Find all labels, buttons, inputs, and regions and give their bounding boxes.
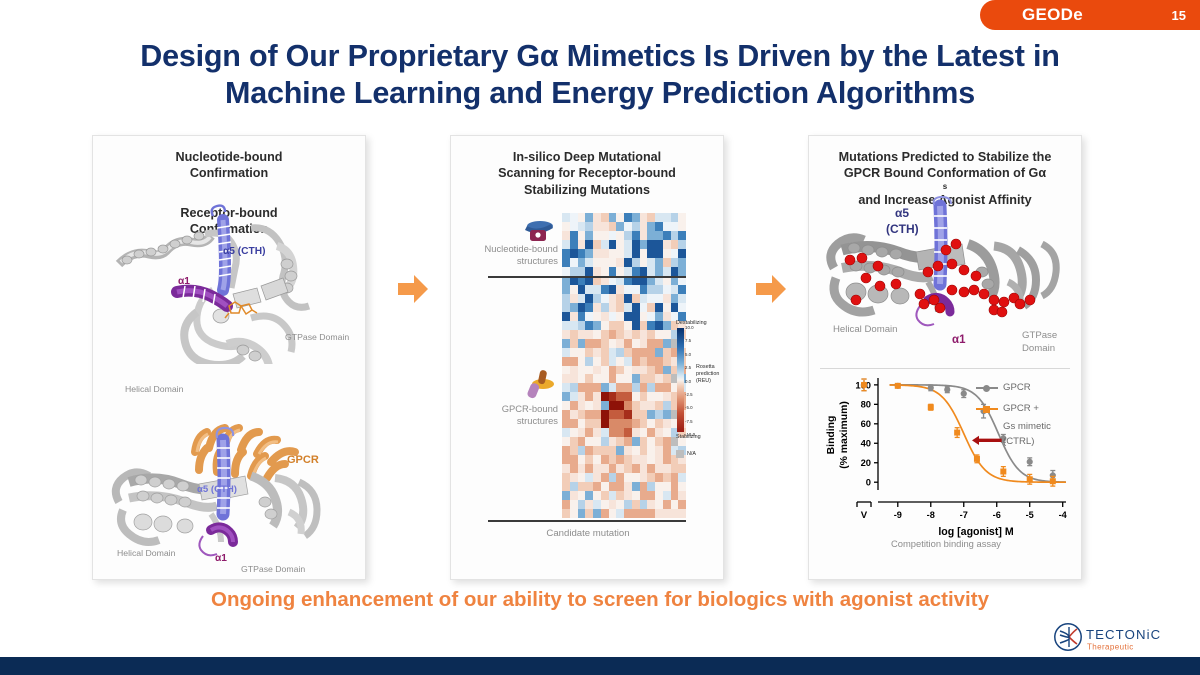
heatmap-cell [585,231,593,240]
heatmap-cell [678,249,686,258]
heatmap-cell [624,500,632,509]
heatmap-cell [601,383,609,392]
heatmap-row-label-gpcr: GPCR-bound structures [458,403,558,427]
heatmap-cell [678,222,686,231]
heatmap-cell [647,213,655,222]
heatmap-cell [562,339,570,348]
heatmap-cell [562,500,570,509]
heatmap-cell [655,357,663,366]
chart-ylabel: (% maximum) [839,401,850,469]
heatmap-cell [624,222,632,231]
heatmap-cell [640,419,648,428]
logo-wordmark: TECTONiC [1086,627,1161,642]
heatmap-cell [570,339,578,348]
heatmap-cell [663,509,671,518]
heatmap-cell [585,240,593,249]
heatmap-cell [678,258,686,267]
heatmap-cell [655,392,663,401]
heatmap-cell [678,294,686,303]
heatmap-cell [562,392,570,401]
heatmap-cell [593,455,601,464]
heatmap-cell [585,285,593,294]
heatmap-cell [624,231,632,240]
heatmap-cell [593,249,601,258]
heatmap-cell [578,267,586,276]
heatmap-cell [640,231,648,240]
heatmap-cell [585,392,593,401]
heatmap-cell [616,464,624,473]
heatmap-cell [655,249,663,258]
heatmap-cell [601,330,609,339]
heatmap-cell [609,401,617,410]
heatmap-cell [609,366,617,375]
heatmap-cell [663,285,671,294]
heatmap-cell [663,213,671,222]
heatmap-cell [678,240,686,249]
panel2-title-line2: Scanning for Receptor-bound [463,165,711,181]
heatmap-cell [570,410,578,419]
heatmap-cell [655,231,663,240]
heatmap-cell [624,383,632,392]
heatmap-cell [624,249,632,258]
heatmap-cell [585,348,593,357]
heatmap-cell [585,249,593,258]
panel2-title: In-silico Deep Mutational Scanning for R… [451,136,723,198]
heatmap-cell [578,339,586,348]
heatmap-cell [624,401,632,410]
heatmap-colorbar-legend: Destabilizing 10.07.55.02.50.0-2.5-5.0-7… [676,320,722,480]
heatmap-cell [647,392,655,401]
heatmap-cell [632,455,640,464]
heatmap-cell [585,267,593,276]
chart-point [1000,469,1006,475]
heatmap-cell [609,428,617,437]
heatmap-cell [570,330,578,339]
heatmap-cell [578,392,586,401]
heatmap-cell [601,285,609,294]
heatmap-cell [624,482,632,491]
heatmap-cell [640,383,648,392]
heatmap-cell [585,473,593,482]
heatmap-cell [616,482,624,491]
heatmap-cell [663,455,671,464]
heatmap-cell [655,222,663,231]
heatmap-cell [562,464,570,473]
heatmap-cell [663,473,671,482]
heatmap-cell [671,231,679,240]
heatmap-cell [562,222,570,231]
heatmap-cell [624,410,632,419]
heatmap-cell [647,437,655,446]
heatmap-cell [616,312,624,321]
heatmap-cell [632,464,640,473]
heatmap-cell [616,303,624,312]
heatmap-cell [562,231,570,240]
heatmap-cell [585,491,593,500]
heatmap-cell [601,321,609,330]
heatmap-cell [601,446,609,455]
heatmap-cell [562,410,570,419]
heatmap-cell [585,312,593,321]
heatmap-cell [624,348,632,357]
heatmap-cell [585,374,593,383]
heatmap-cell [562,428,570,437]
heatmap-cell [593,348,601,357]
heatmap-cell [570,428,578,437]
heatmap-cell [578,285,586,294]
heatmap-cell [678,285,686,294]
chart-legend-gpcr: GPCR [976,382,1031,394]
label-a5-cth-bottom: α5 (CTH) [197,484,237,495]
heatmap-cell [632,437,640,446]
heatmap-cell [570,401,578,410]
heatmap-cell [632,258,640,267]
heatmap-cell [593,383,601,392]
heatmap-cell [624,213,632,222]
logo-tagline: Therapeutic [1087,643,1134,652]
heatmap-cell [601,419,609,428]
heatmap-cell [601,222,609,231]
heatmap-cell [632,446,640,455]
heatmap-cell [562,509,570,518]
chart-point [1027,476,1033,482]
colorbar-gradient [677,328,684,432]
heatmap-cell [585,410,593,419]
heatmap-cell [616,437,624,446]
heatmap-cell [624,491,632,500]
heatmap-cell [647,410,655,419]
colorbar-tick: 5.0 [685,352,691,357]
heatmap-cell [601,401,609,410]
heatmap-cell [585,419,593,428]
heatmap-cell [585,303,593,312]
heatmap-cell [601,366,609,375]
chart-curve [890,385,1066,482]
heatmap-cell [593,509,601,518]
heatmap-cell [632,482,640,491]
heatmap-cell [663,231,671,240]
panel1-top-title-line2: Confirmation [105,165,353,181]
heatmap-cell [570,383,578,392]
chart-xtick: -9 [894,510,902,520]
heatmap-cell [609,500,617,509]
heatmap-cell [647,446,655,455]
na-label: N/A [687,451,696,457]
heatmap-cell [640,374,648,383]
heatmap-cell [640,339,648,348]
heatmap-cell [593,213,601,222]
panel1-top-title-line1: Nucleotide-bound [105,149,353,165]
heatmap-cell [655,348,663,357]
heatmap-cell [570,374,578,383]
flow-arrow-right-2 [754,272,788,306]
heatmap-cell [578,240,586,249]
heatmap-cell [570,437,578,446]
heatmap-cell [562,312,570,321]
chart-point [944,387,950,393]
heatmap-cell [632,231,640,240]
heatmap-cell [601,231,609,240]
heatmap-cell [616,285,624,294]
heatmap-cell [562,258,570,267]
heatmap-cell [678,213,686,222]
heatmap-cell [655,267,663,276]
heatmap-cell [647,321,655,330]
heatmap-cell [609,383,617,392]
heatmap-cell [616,509,624,518]
label-helical-domain-panel3: Helical Domain [833,324,898,335]
heatmap-cell [601,294,609,303]
heatmap-cell [647,249,655,258]
heatmap-cell [624,446,632,455]
legend-label-gpcr: GPCR [1003,382,1031,394]
heatmap-cell [640,312,648,321]
heatmap-cell [562,491,570,500]
colorbar-caption: Rosetta prediction (REU) [696,364,724,385]
heatmap-cell [585,464,593,473]
heatmap-cell [609,509,617,518]
heatmap-cell [578,357,586,366]
heatmap-cell [609,464,617,473]
heatmap-cell [570,321,578,330]
heatmap-cell [570,258,578,267]
heatmap-cell [640,366,648,375]
heatmap-cell [570,267,578,276]
heatmap-cell [601,491,609,500]
heatmap-cell [640,410,648,419]
heatmap-cell [624,303,632,312]
heatmap-cell [609,491,617,500]
heatmap-cell [562,303,570,312]
heatmap-cell [562,482,570,491]
heatmap-cell [616,339,624,348]
heatmap-cell [609,339,617,348]
heatmap-cell [655,401,663,410]
heatmap-cell [647,285,655,294]
heatmap-cell [640,437,648,446]
label-gtpase-domain-bottom: GTPase Domain [241,564,305,574]
chart-point [954,430,960,436]
heatmap-cell [601,312,609,321]
heatmap-cell [647,383,655,392]
panel-nucleotide-receptor-conformations: Nucleotide-bound Confirmation [92,135,366,580]
heatmap-cell [616,330,624,339]
heatmap-cell [647,374,655,383]
heatmap-xaxis-label: Candidate mutation [490,528,686,539]
heatmap-cell [647,473,655,482]
legend-label-mimetic-line1: GPCR + [1003,403,1039,415]
heatmap-cell [640,240,648,249]
heatmap-cell [601,348,609,357]
heatmap-cell [609,240,617,249]
heatmap-cell [609,419,617,428]
heatmap-cell [640,446,648,455]
heatmap-cell [655,428,663,437]
heatmap-cell [640,303,648,312]
heatmap-cell [593,437,601,446]
heatmap-cell [585,339,593,348]
heatmap-cell [562,366,570,375]
heatmap-cell [655,446,663,455]
label-gtpase-panel3-line2: Domain [1022,343,1055,354]
gpcr-structure-icon [524,365,558,399]
heatmap-cell [655,419,663,428]
heatmap-cell [585,428,593,437]
heatmap-cell [578,491,586,500]
heatmap-cell [624,267,632,276]
label-gtpase-panel3-line1: GTPase [1022,330,1057,341]
heatmap-cell [616,294,624,303]
heatmap-cell [609,222,617,231]
heatmap-cell [578,509,586,518]
panel3-title-line2-text: GPCR Bound Conformation of Gα [821,165,1069,181]
heatmap-cell [663,321,671,330]
heatmap-cell [570,419,578,428]
heatmap-cell [562,294,570,303]
heatmap-cell [570,500,578,509]
heatmap-cell [640,401,648,410]
heatmap-cell [624,374,632,383]
legend-marker-gpcr [976,383,998,392]
heatmap-cell [624,258,632,267]
panel3-title-line1: Mutations Predicted to Stabilize the [821,149,1069,165]
heatmap-cell [601,392,609,401]
heatmap-cell [578,374,586,383]
competition-binding-chart: 020406080100Binding(% maximum)-9-8-7-6-5… [818,372,1074,542]
label-helical-domain-top: Helical Domain [125,384,183,394]
heatmap-cell [578,366,586,375]
heatmap-cell [562,330,570,339]
heatmap-cell [632,473,640,482]
heatmap-cell [624,357,632,366]
heatmap-cell [616,491,624,500]
heatmap-cell [562,285,570,294]
label-helical-domain-bottom: Helical Domain [117,548,175,558]
heatmap-cell [632,500,640,509]
heatmap-cell [655,410,663,419]
heatmap-cell [647,500,655,509]
heatmap-cell [624,312,632,321]
heatmap-cell [655,509,663,518]
heatmap-cell [562,249,570,258]
chart-point [1050,478,1056,484]
page-title-line2: Machine Learning and Energy Prediction A… [50,75,1150,112]
heatmap-cell [593,303,601,312]
heatmap-cell [601,240,609,249]
heatmap-cell [647,294,655,303]
header-badge: GEODe 15 [980,0,1200,30]
heatmap-cell [655,321,663,330]
heatmap-cell [640,473,648,482]
heatmap-cell [562,419,570,428]
heatmap-cell [640,428,648,437]
heatmap-cell [578,312,586,321]
heatmap-cell [624,419,632,428]
heatmap-cell [570,240,578,249]
heatmap-cell [578,482,586,491]
heatmap-cell [585,401,593,410]
heatmap-cell [640,267,648,276]
chart-point [928,385,934,391]
heatmap-cell [585,500,593,509]
heatmap-cell [663,240,671,249]
heatmap-cell [632,491,640,500]
heatmap-cell [624,509,632,518]
heatmap-cell [616,473,624,482]
heatmap-cell [616,500,624,509]
heatmap-cell [678,231,686,240]
heatmap-cell [655,240,663,249]
heatmap-cell [624,294,632,303]
heatmap-cell [601,437,609,446]
heatmap-cell [593,500,601,509]
heatmap-cell [609,348,617,357]
heatmap-cell [585,446,593,455]
heatmap-cell [609,357,617,366]
heatmap-cell [647,330,655,339]
heatmap-cell [570,222,578,231]
heatmap-cell [616,240,624,249]
heatmap-cell [562,437,570,446]
heatmap-cell [632,267,640,276]
chart-ytick: 0 [866,477,871,488]
label-a5-cth-top: α5 (CTH) [223,246,265,257]
colorbar-tick: 2.5 [685,365,691,370]
heatmap-cell [609,294,617,303]
heatmap-cell [632,357,640,366]
heatmap-cell [655,455,663,464]
heatmap-cell [601,500,609,509]
heatmap-cell [647,267,655,276]
heatmap-cell [593,339,601,348]
heatmap-cell [678,303,686,312]
heatmap-cell [663,482,671,491]
heatmap-cell [601,509,609,518]
heatmap-cell [624,330,632,339]
shift-annotation-arrowhead [972,436,979,445]
heatmap-cell [616,321,624,330]
heatmap-cell [585,321,593,330]
chart-point-vehicle [861,382,867,388]
heatmap-cell [624,366,632,375]
heatmap-cell [616,410,624,419]
heatmap-cell [616,419,624,428]
heatmap-cell [616,428,624,437]
rowlabel-gpcr-line2: structures [458,415,558,427]
heatmap-cell [647,231,655,240]
heatmap-cell [663,357,671,366]
mutational-scanning-heatmap [562,213,686,518]
heatmap-divider-bottom [488,520,686,522]
heatmap-cell [562,473,570,482]
heatmap-row-label-nucleotide: Nucleotide-bound structures [458,243,558,267]
panel1-top-title: Nucleotide-bound Confirmation [93,136,365,182]
heatmap-cell [647,419,655,428]
heatmap-cell [632,294,640,303]
heatmap-cell [655,500,663,509]
heatmap-cell [624,464,632,473]
heatmap-cell [609,374,617,383]
heatmap-cell [578,500,586,509]
chart-xtick: -4 [1059,510,1068,520]
heatmap-cell [570,213,578,222]
heatmap-cell [616,392,624,401]
label-a1-panel3: α1 [952,334,965,346]
heatmap-cell [609,321,617,330]
heatmap-cell [585,222,593,231]
heatmap-cell [640,491,648,500]
label-gtpase-domain-top: GTPase Domain [285,332,349,342]
